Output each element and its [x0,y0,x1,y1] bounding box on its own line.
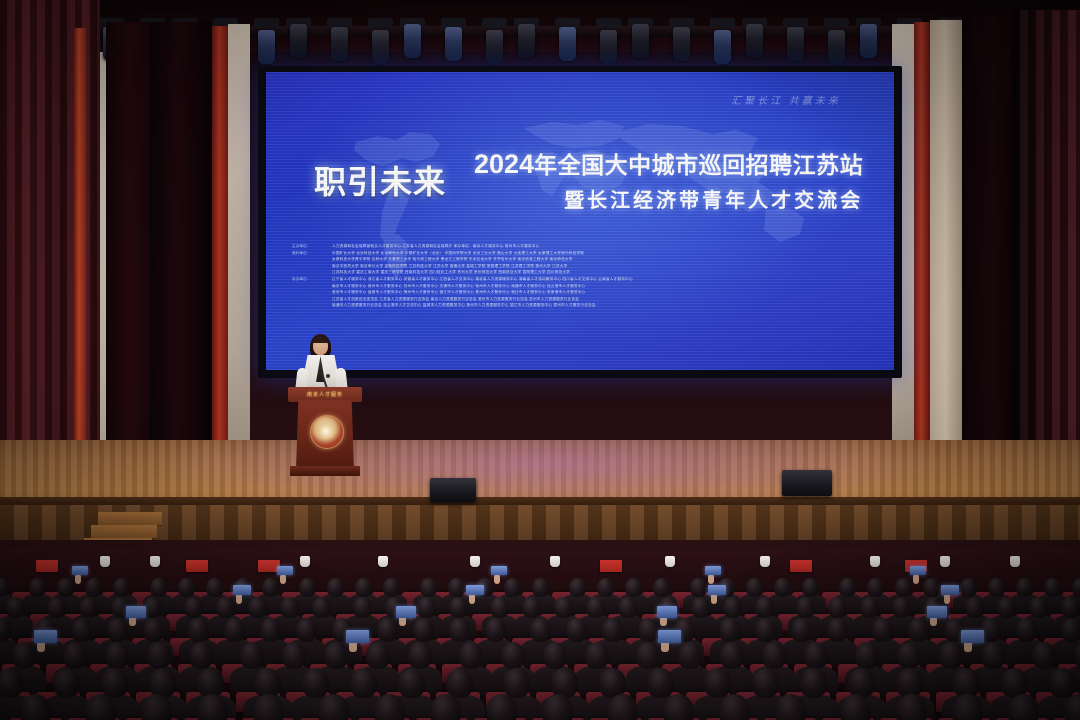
audience-head [895,578,912,597]
audience-head [828,597,847,618]
audience-head [504,578,521,597]
red-pillar-right [914,22,930,492]
audience-head [417,597,436,618]
audience-head [71,618,92,642]
audience-head [282,642,306,669]
audience-head [923,578,940,597]
stage-light [828,30,845,64]
stage-light-yoke [368,18,393,28]
audience-hand [913,574,919,584]
curtain-right-beige [930,20,964,494]
audience-phone [126,606,146,618]
stage-light [404,24,421,58]
stage-light-yoke [482,18,507,28]
audience-head [755,597,774,618]
audience-head [585,642,609,669]
audience-head [184,597,203,618]
audience-head [377,618,398,642]
audience-head [355,578,372,597]
stage-light [486,30,503,64]
audience-head [353,597,372,618]
audience-head [892,597,911,618]
stage-light [258,30,275,64]
stage-light [632,24,649,58]
audience-head [408,642,432,669]
audience-head [490,597,509,618]
auditorium-photo: 汇聚长江 共赢未来 职引未来 2024年全国大中城市巡回招聘江苏站 暨长江经济带… [0,0,1080,720]
audience-head [827,618,848,642]
audience-head [755,618,776,642]
audience-head [216,597,235,618]
tea-cup [100,556,110,567]
audience-phone [927,606,947,618]
audience-head [690,578,707,597]
audience-head [383,578,400,597]
audience-head [101,668,128,698]
stage-light [746,24,763,58]
audience-head [719,618,740,642]
audience-head [618,597,637,618]
beige-pillar-left [228,24,250,490]
audience-phone [277,566,293,575]
stage-light [518,24,535,58]
audience-head [350,668,377,698]
audience-head [12,642,36,669]
stage-light [714,30,731,64]
audience-hand [75,574,81,584]
audience-head [47,597,66,618]
audience-head [260,618,281,642]
audience-head [0,668,23,698]
audience-head [57,578,74,597]
audience-head [543,642,567,669]
stage-light [600,30,617,64]
audience-head [79,597,98,618]
audience-phone [466,585,484,595]
audience-head [150,578,167,597]
audience-head [566,618,587,642]
audience-phone [72,566,88,575]
stage-light [372,30,389,64]
tea-cup [1010,556,1020,567]
tea-cup [550,556,560,567]
stage-light [559,27,576,61]
audience-head [897,642,921,669]
stage-light-yoke [596,18,621,28]
podium-emblem-center [318,423,334,439]
audience-head [802,578,819,597]
screen-scanlines [266,72,894,370]
audience-head [449,597,468,618]
audience-phone [658,630,681,643]
stage-light-yoke [824,18,849,28]
audience-head [796,597,815,618]
audience-head [206,578,223,597]
audience-head [188,618,209,642]
audience-head [691,597,710,618]
audience-head [1029,597,1048,618]
audience-head [1032,642,1056,669]
stage-light [445,27,462,61]
audience-head [965,597,984,618]
tea-cup [870,556,880,567]
tea-cup [760,556,770,567]
led-screen: 汇聚长江 共赢未来 职引未来 2024年全国大中城市巡回招聘江苏站 暨长江经济带… [266,72,894,370]
audience-head [296,618,317,642]
audience-head [988,578,1005,597]
audience-head [762,642,786,669]
audience-head [530,618,551,642]
audience-phone [941,585,959,595]
audience-head [647,668,674,698]
audience-head [113,578,130,597]
curtain-right-outer-folds [1012,10,1080,510]
audience-head [449,618,470,642]
audience-head [746,578,763,597]
audience-head [413,618,434,642]
speaker-face [315,343,326,355]
audience-phone [657,606,677,618]
audience-head [262,578,279,597]
audience-head [107,618,128,642]
audience-head [503,668,530,698]
audience-head [855,642,879,669]
audience-head [1016,618,1037,642]
audience-head [872,618,893,642]
audience-head [908,618,929,642]
stage-light-yoke [254,18,279,28]
audience-head [1061,618,1080,642]
audience-head [532,578,549,597]
audience-head [554,597,573,618]
audience-head [248,597,267,618]
audience-head [1016,578,1033,597]
stage-light [673,27,690,61]
audience-head [981,642,1005,669]
podium-base [290,466,360,476]
audience-phone [961,630,984,643]
stage-light [860,24,877,58]
audience-head [704,668,731,698]
audience-phone [233,585,251,595]
audience-head [752,668,779,698]
red-pillar-left-inner [212,26,228,488]
audience-head [63,642,87,669]
audience-head [774,578,791,597]
audience-head [85,578,102,597]
audience-head [997,597,1016,618]
tea-cup [940,556,950,567]
audience-head [960,578,977,597]
audience-head [678,642,702,669]
audience-phone [396,606,416,618]
audience-head [312,597,331,618]
tea-cup [665,556,675,567]
audience-head [280,597,299,618]
audience-head [1061,597,1080,618]
audience-head [1072,578,1080,597]
table-name-card [790,560,812,572]
audience-head [189,642,213,669]
audience-head [597,578,614,597]
stage-monitor-left [430,478,476,502]
audience-head [459,642,483,669]
stage-monitor-right [782,470,832,496]
audience-head [29,578,46,597]
audience-head [804,642,828,669]
audience-hand [280,574,286,584]
audience-head [501,642,525,669]
audience-head [420,578,437,597]
table-name-card [36,560,58,572]
audience-hand [494,574,500,584]
tea-cup [378,556,388,567]
table-name-card [186,560,208,572]
audience-head [105,642,129,669]
audience-head [446,668,473,698]
audience-head [224,618,245,642]
audience-head [569,578,586,597]
audience-head [448,578,465,597]
audience-head [147,642,171,669]
audience-head [791,618,812,642]
podium-top: 南京人才服务 [288,387,362,402]
stage-light [331,27,348,61]
audience-phone [708,585,726,595]
audience-head [800,668,827,698]
audience-phone [491,566,507,575]
audience-hand [708,574,714,584]
tea-cup [470,556,480,567]
tea-cup [150,556,160,567]
stage-light-yoke [710,18,735,28]
audience-head [302,668,329,698]
stage-light [290,24,307,58]
audience-head [602,618,623,642]
stage-light [787,27,804,61]
audience-head [143,618,164,642]
table-name-card [600,560,622,572]
audience-head [6,597,25,618]
audience-head [53,668,80,698]
audience-head [720,642,744,669]
audience-head [299,578,316,597]
audience-head [867,578,884,597]
audience-head [653,578,670,597]
audience-head [636,642,660,669]
red-pillar-left-outer [74,28,86,500]
audience-head [398,668,425,698]
audience-phone [910,566,926,575]
audience-head [638,618,659,642]
audience-head [939,642,963,669]
audience-head [1049,668,1076,698]
audience-head [839,578,856,597]
tea-cup [300,556,310,567]
audience-head [1044,578,1061,597]
audience-head [586,597,605,618]
audience-phone [705,566,721,575]
audience-head [860,597,879,618]
audience-head [324,642,348,669]
audience-phone [346,630,369,643]
audience-head [625,578,642,597]
audience-phone [34,630,57,643]
audience-head [522,597,541,618]
audience-head [240,642,264,669]
audience-head [178,578,195,597]
microphone-head [326,374,330,378]
audience-head [723,597,742,618]
audience-head [366,642,390,669]
podium-label: 南京人才服务 [307,391,343,398]
audience-head [485,618,506,642]
curtain-left-inner [150,22,212,490]
audience-head [327,578,344,597]
